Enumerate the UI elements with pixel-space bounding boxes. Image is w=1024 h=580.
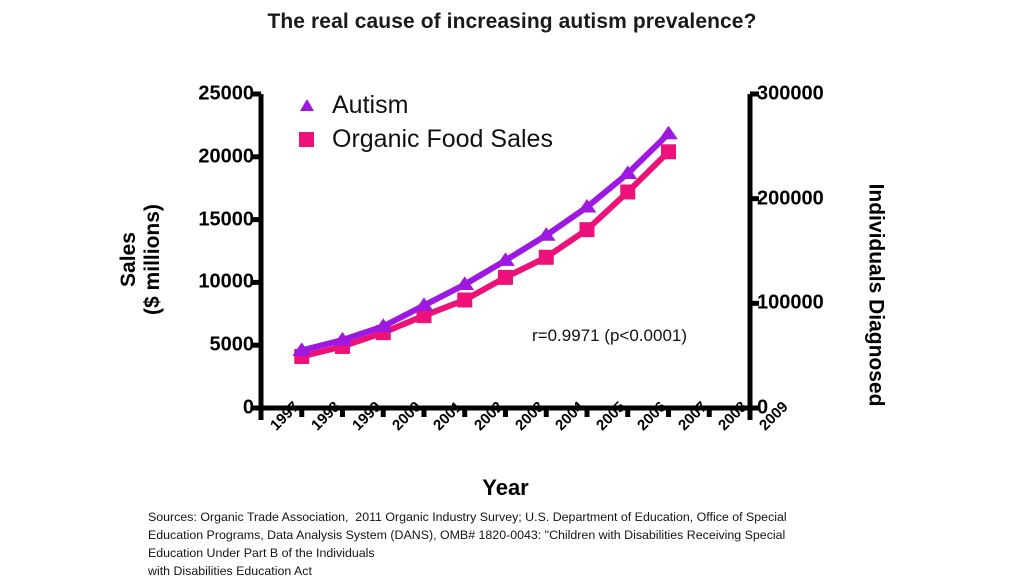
legend: Autism Organic Food Sales xyxy=(296,88,553,156)
legend-item-label: Organic Food Sales xyxy=(332,125,553,154)
legend-item-label: Autism xyxy=(332,91,408,120)
chart-canvas: The real cause of increasing autism prev… xyxy=(0,0,1024,576)
legend-item-organic-food-sales[interactable]: Organic Food Sales xyxy=(296,122,553,156)
y-axis-right-title-text: Individuals Diagnosed xyxy=(863,184,887,407)
y-axis-left-title-line2: ($ millions) xyxy=(140,205,164,316)
square-icon xyxy=(296,128,318,150)
sources-line: Education Programs, Data Analysis System… xyxy=(148,526,938,544)
legend-item-autism[interactable]: Autism xyxy=(296,88,553,122)
x-axis-title: Year xyxy=(261,475,750,501)
page-title: The real cause of increasing autism prev… xyxy=(0,10,1024,34)
sources-line: Sources: Organic Trade Association, 2011… xyxy=(148,508,938,526)
sources-footnote: Sources: Organic Trade Association, 2011… xyxy=(148,508,938,580)
y-axis-left-title-line1: Sales xyxy=(116,205,140,316)
correlation-annotation: r=0.9971 (p<0.0001) xyxy=(532,326,687,346)
sources-line: with Disabilities Education Act xyxy=(148,562,938,580)
sources-line: Education Under Part B of the Individual… xyxy=(148,544,938,562)
triangle-up-icon xyxy=(296,94,318,116)
